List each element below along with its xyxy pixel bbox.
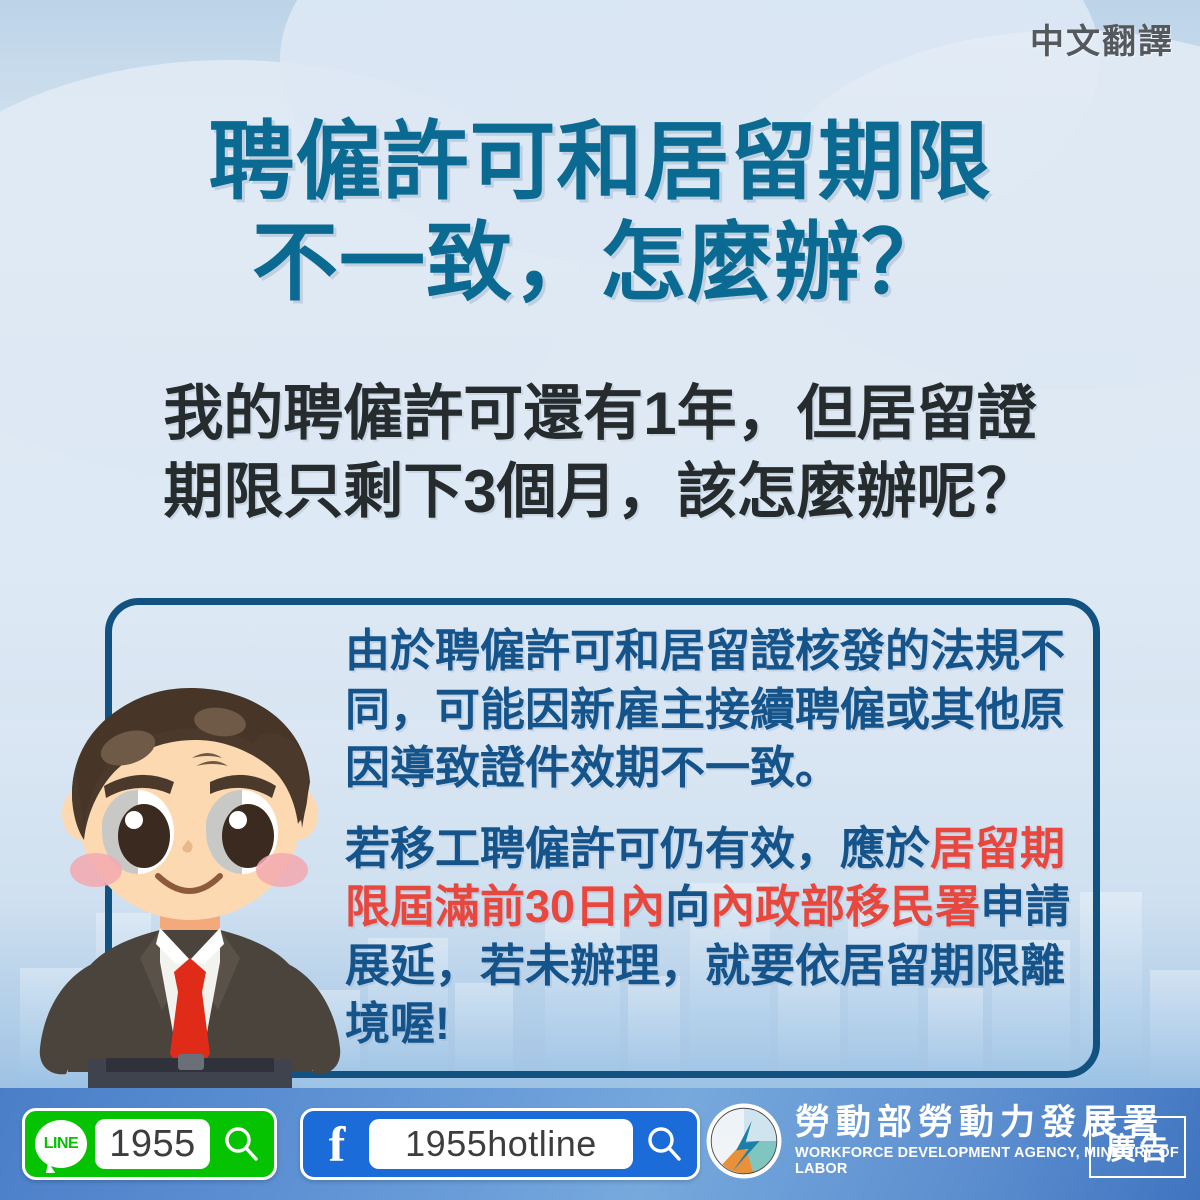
character-illustration [10, 662, 370, 1102]
page-title-line-1: 聘僱許可和居留期限 [0, 112, 1200, 213]
page-title: 聘僱許可和居留期限 不一致，怎麼辦？ [0, 112, 1200, 313]
poster-canvas: 中文翻譯 聘僱許可和居留期限 不一致，怎麼辦？ 我的聘僱許可還有1年，但居留證 … [0, 0, 1200, 1200]
facebook-icon: f [313, 1119, 361, 1169]
page-title-line-2: 不一致，怎麼辦？ [0, 213, 1200, 314]
ad-label: 廣告 [1089, 1116, 1186, 1178]
line-contact-badge[interactable]: LINE 1955 [22, 1108, 277, 1180]
question-line-2: 期限只剩下3個月，該怎麼辦呢？ [0, 453, 1200, 531]
answer-p2-highlight-2: 內政部移民署 [710, 881, 980, 932]
answer-text: 由於聘僱許可和居留證核發的法規不同，可能因新雇主接續聘僱或其他原因導致證件效期不… [345, 622, 1090, 1054]
question-line-1: 我的聘僱許可還有1年，但居留證 [0, 375, 1200, 453]
agency-logo-icon [705, 1102, 783, 1180]
answer-p2-part-a: 若移工聘僱許可仍有效，應於 [345, 823, 930, 874]
search-icon[interactable] [218, 1124, 264, 1164]
building [1150, 970, 1200, 1088]
line-icon: LINE [35, 1120, 87, 1168]
answer-paragraph-1: 由於聘僱許可和居留證核發的法規不同，可能因新雇主接續聘僱或其他原因導致證件效期不… [345, 622, 1090, 798]
facebook-page-value: 1955hotline [369, 1119, 633, 1169]
question-text: 我的聘僱許可還有1年，但居留證 期限只剩下3個月，該怎麼辦呢？ [0, 375, 1200, 531]
facebook-contact-badge[interactable]: f 1955hotline [300, 1108, 700, 1180]
search-icon[interactable] [641, 1124, 687, 1164]
line-id-value: 1955 [95, 1119, 210, 1169]
footer-bar: LINE 1955 f 1955hotline [0, 1088, 1200, 1200]
answer-p2-part-b: 向 [665, 881, 710, 932]
answer-paragraph-2: 若移工聘僱許可仍有效，應於居留期限屆滿前30日內向內政部移民署申請展延，若未辦理… [345, 820, 1090, 1054]
translation-tag: 中文翻譯 [1030, 14, 1174, 63]
